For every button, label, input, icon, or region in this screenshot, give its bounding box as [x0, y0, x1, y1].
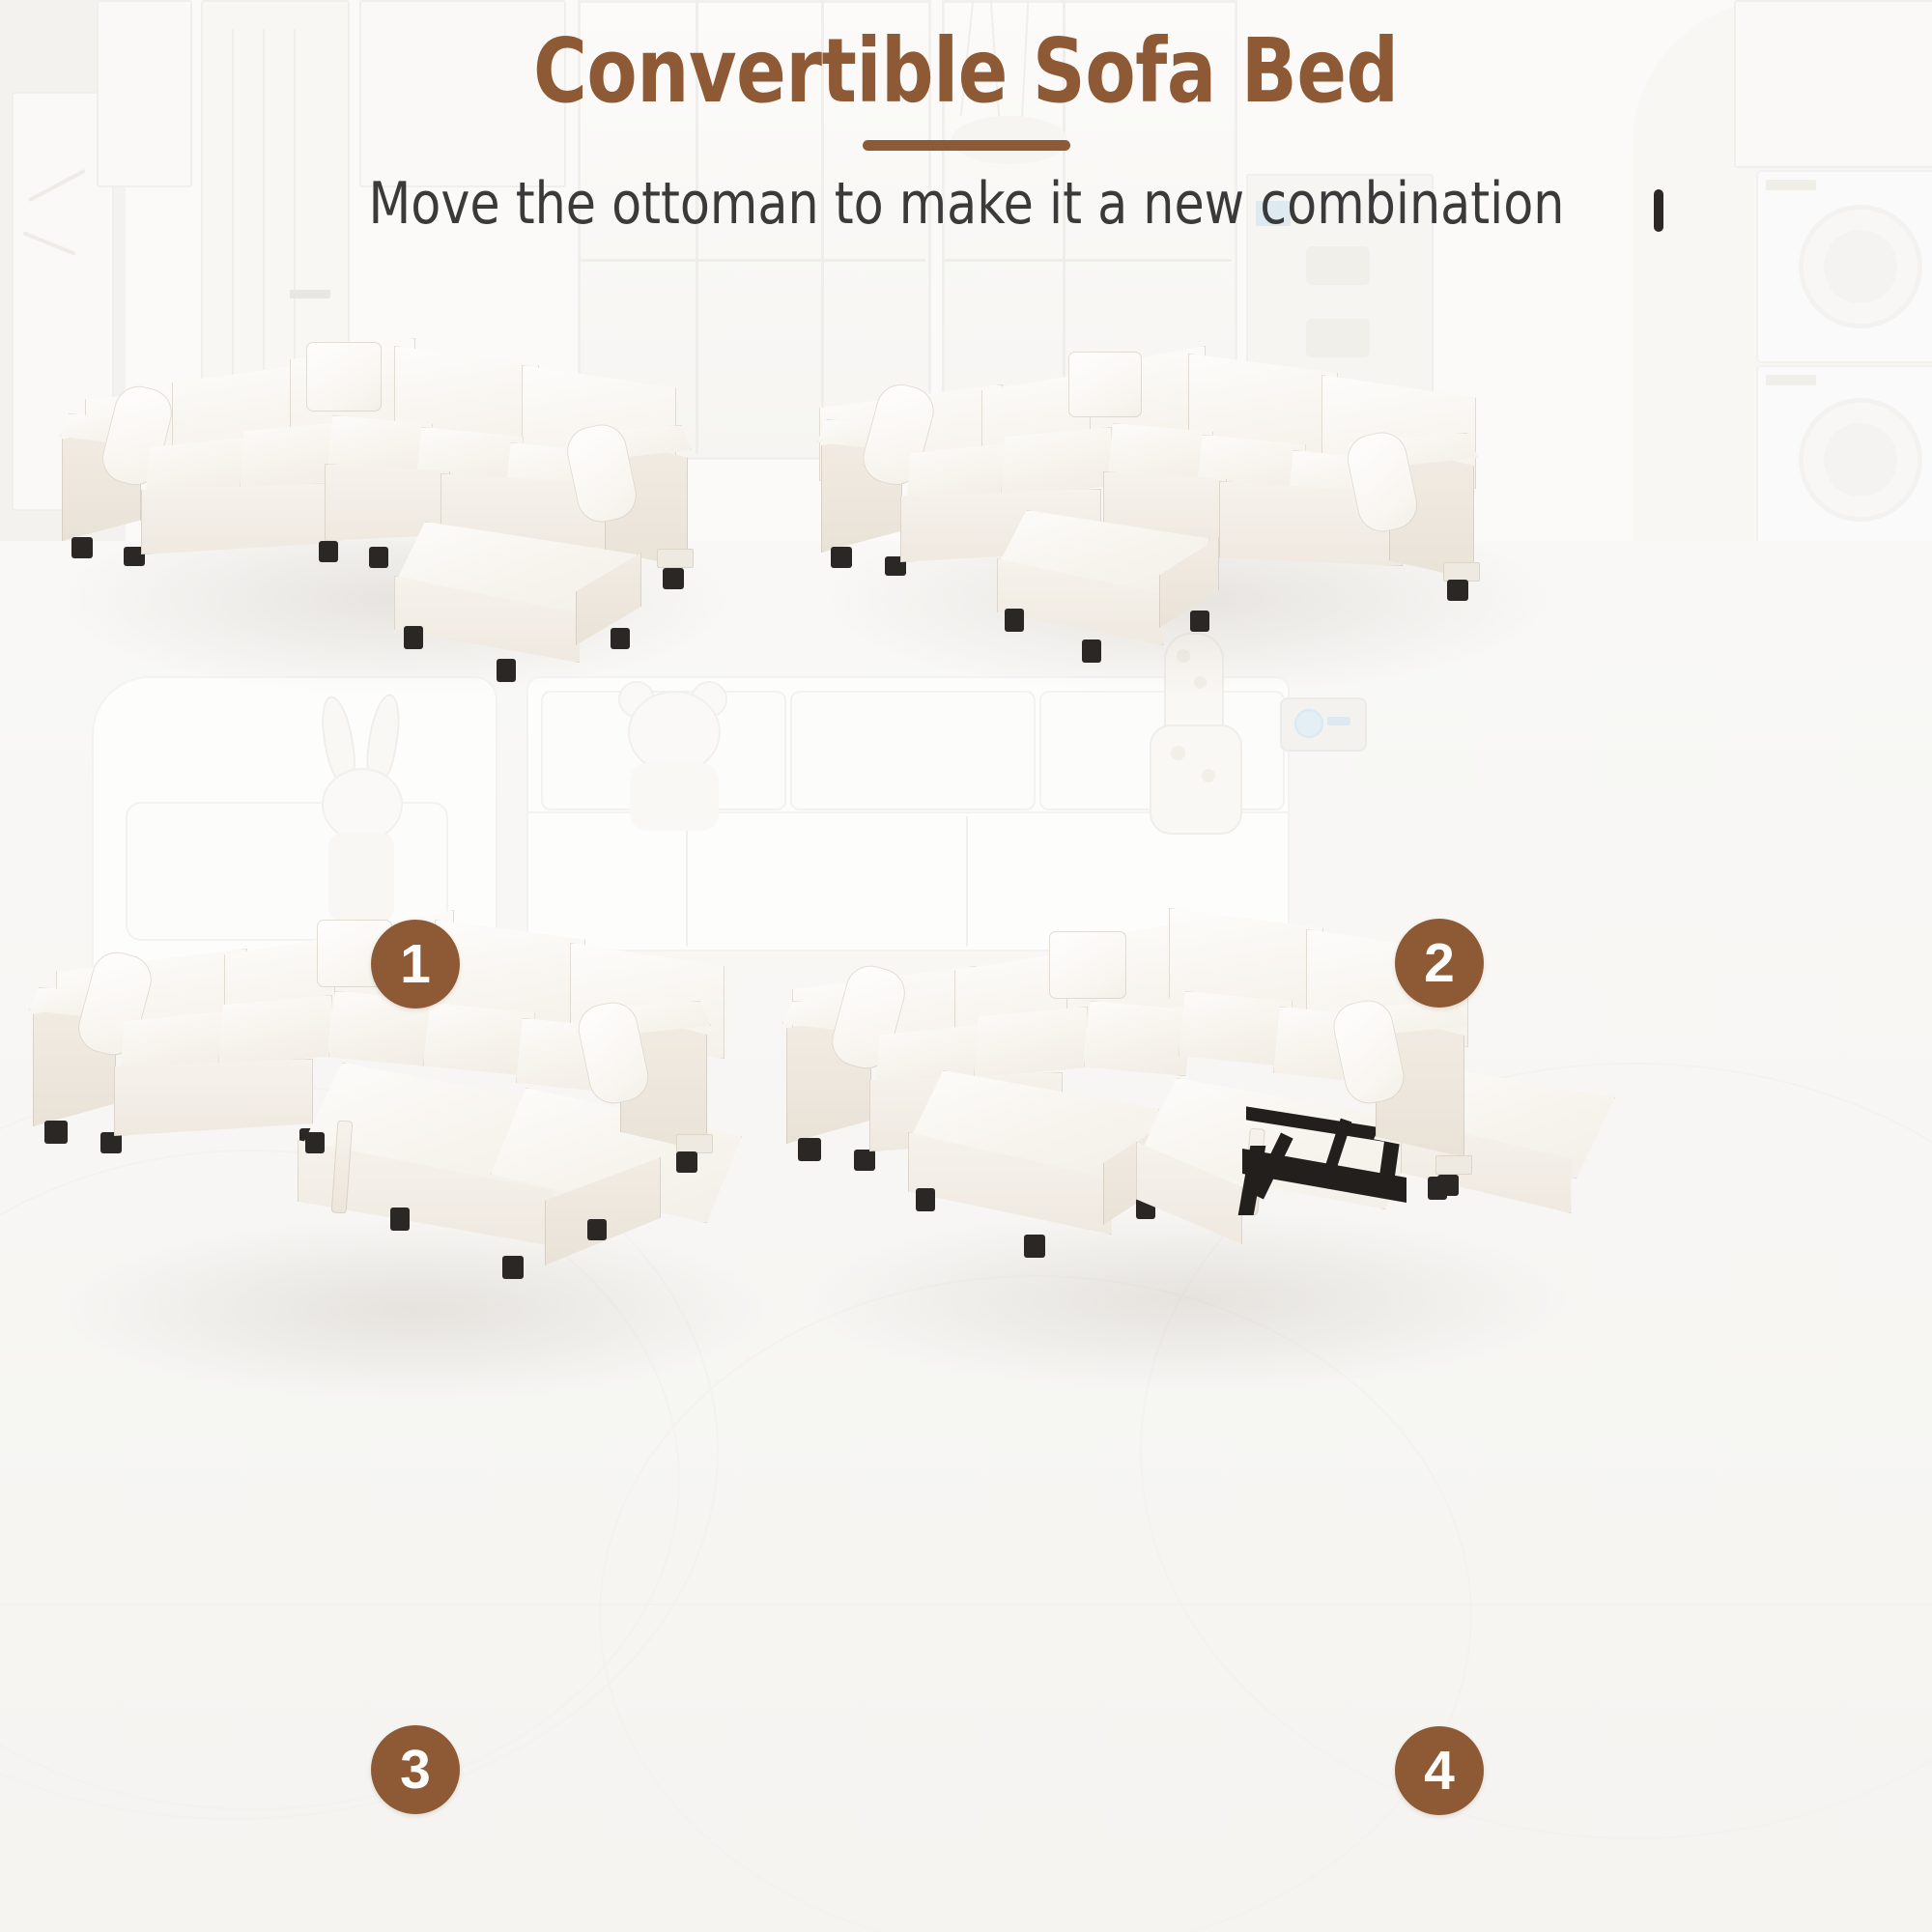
panel-4-shadow — [802, 1207, 1575, 1391]
p1-left-arm-foot — [71, 537, 93, 558]
giraffe-spot-4 — [1202, 769, 1215, 782]
panel-3-shadow — [58, 1217, 773, 1401]
p1-ottoman-foot-3 — [611, 628, 630, 649]
bear-body-icon — [630, 763, 719, 831]
page-title: Convertible Sofa Bed — [533, 27, 1399, 116]
p3-bed-foot-3 — [502, 1256, 524, 1279]
title-divider — [863, 140, 1070, 151]
p2-ottoman-foot-2 — [1082, 639, 1101, 663]
p1-ottoman-foot-1 — [404, 626, 423, 649]
p2-right-arm-foot — [1447, 580, 1468, 601]
p4-ottoman-foot-2 — [1024, 1235, 1045, 1258]
p2-ottoman-foot-3 — [1190, 611, 1209, 632]
p1-ottoman-foot-2 — [497, 659, 516, 682]
p4-ottoman-foot-1 — [916, 1188, 935, 1211]
p4-left-arm-foot-2 — [854, 1150, 875, 1171]
p2-ottoman-foot-1 — [1005, 609, 1024, 632]
panel-4-sofa-configuration — [763, 869, 1932, 1372]
p3-left-arm-foot — [44, 1121, 68, 1144]
p4-seat-cushion-corner — [1084, 1001, 1192, 1076]
floor-seam-2 — [0, 1840, 1932, 1842]
bunny-head-icon — [322, 768, 403, 841]
floor-seam-1 — [0, 1604, 1932, 1605]
p4-accent-pillow-corner — [1049, 931, 1126, 999]
panel-4-step-badge: 4 — [1395, 1726, 1484, 1815]
panel-1-step-badge: 1 — [371, 920, 460, 1009]
p4-right-arm-foot — [1437, 1175, 1459, 1196]
p3-seat-cushion-2 — [218, 995, 332, 1066]
header: Convertible Sofa Bed Move the ottoman to… — [0, 0, 1932, 261]
p4-fabric-tag — [1435, 1155, 1472, 1175]
p1-base-foot-2 — [369, 547, 388, 568]
p3-bed-foot-4 — [587, 1219, 607, 1240]
p3-bed-foot-1 — [305, 1132, 325, 1153]
p2-fabric-tag — [1443, 562, 1480, 582]
giraffe-body-icon — [1150, 724, 1242, 835]
p2-seat-cushion-2 — [1001, 427, 1112, 497]
p4-left-arm-foot — [798, 1138, 821, 1161]
p1-fabric-tag — [657, 549, 694, 568]
page-subtitle: Move the ottoman to make it a new combin… — [368, 172, 1564, 236]
giraffe-spot-3 — [1171, 746, 1185, 760]
p4-seat-cushion-2 — [974, 1007, 1088, 1078]
panel-2-step-badge: 2 — [1395, 919, 1484, 1008]
p2-left-arm-foot — [831, 547, 852, 568]
p1-right-arm-foot — [663, 568, 684, 589]
p1-base-foot-1 — [319, 541, 338, 562]
p3-fabric-tag — [676, 1134, 713, 1153]
p3-right-arm-foot — [676, 1151, 697, 1173]
p1-accent-pillow-corner — [306, 342, 382, 412]
p1-base-left — [141, 483, 334, 554]
panel-3-step-badge: 3 — [371, 1725, 460, 1814]
p3-bed-foot-2 — [390, 1207, 410, 1231]
p2-accent-pillow-corner — [1068, 352, 1142, 417]
p3-base-left — [114, 1059, 313, 1136]
